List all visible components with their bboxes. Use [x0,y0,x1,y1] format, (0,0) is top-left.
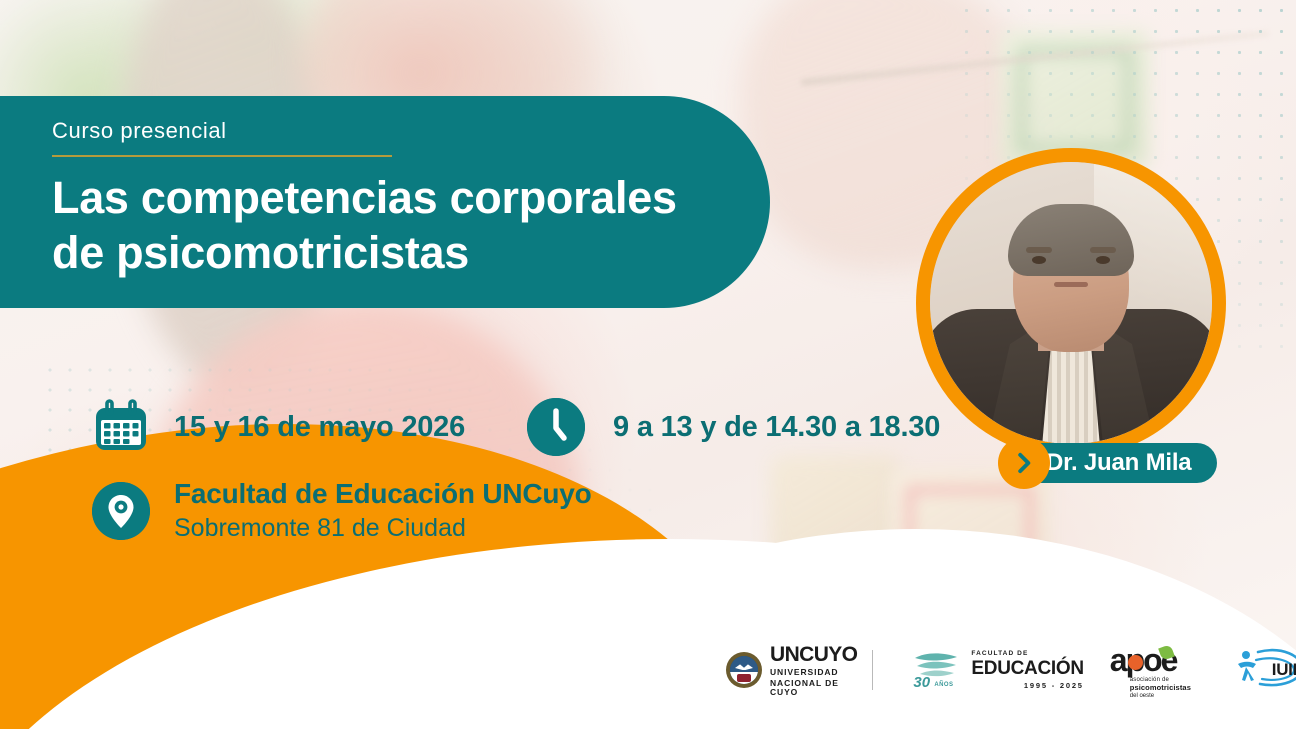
logo-apoe: apoe asociación de psicomotricistas del … [1110,644,1206,696]
apoe-orange-dot-icon [1128,655,1143,670]
apoe-subtitle-3: del oeste [1130,693,1191,700]
uncuyo-subtitle-1: UNIVERSIDAD [770,668,858,677]
speaker-avatar [916,148,1226,458]
venue-texts: Facultad de Educación UNCuyo Sobremonte … [174,478,592,543]
speaker-ring [916,148,1226,458]
logo-divider [872,650,873,690]
calendar-icon [92,398,150,456]
facultad-anniversary-number: 30 [913,674,930,691]
course-flyer: Curso presencial Las competencias corpor… [0,0,1296,729]
title-banner: Curso presencial Las competencias corpor… [0,96,770,308]
logo-uncuyo: UNCUYO UNIVERSIDAD NACIONAL DE CUYO [726,644,886,697]
kicker-underline [52,155,392,157]
venue-name: Facultad de Educación UNCuyo [174,478,592,510]
sponsor-logos: UNCUYO UNIVERSIDAD NACIONAL DE CUYO 30 A… [726,637,1296,703]
speaker-name: Dr. Juan Mila [1046,449,1191,477]
event-date: 15 y 16 de mayo 2026 [174,411,465,444]
venue-row: Facultad de Educación UNCuyo Sobremonte … [92,482,940,543]
event-time: 9 a 13 y de 14.30 a 18.30 [613,411,940,444]
iuip-abbreviation: IUIP [1272,660,1296,680]
facultad-anniversary-word: AÑOS [934,682,953,688]
page-title: Las competencias corporales de psicomotr… [52,171,712,281]
apoe-subtitle-2: psicomotricistas [1130,684,1191,693]
page-title-line-2: de psicomotricistas [52,226,712,281]
venue-address: Sobremonte 81 de Ciudad [174,514,592,543]
wave-icon: 30 AÑOS [912,650,964,690]
uncuyo-shield-icon [726,652,762,688]
speaker-portrait [930,162,1212,444]
logo-iuip: IUIP Instituto Universitario de Investig… [1232,630,1296,711]
clock-icon [527,398,585,456]
kicker-label: Curso presencial [52,118,770,144]
facultad-wordmark: EDUCACIÓN [971,659,1083,678]
uncuyo-subtitle-2: NACIONAL DE CUYO [770,679,858,696]
person-swoosh-icon: IUIP [1232,646,1296,694]
facultad-small-label: FACULTAD DE [971,651,1083,658]
logo-facultad-educacion: 30 AÑOS FACULTAD DE EDUCACIÓN 1995 - 202… [912,650,1083,690]
uncuyo-wordmark: UNCUYO [770,644,858,665]
date-time-row: 15 y 16 de mayo 2026 9 a 13 y de 14.30 a… [92,398,940,456]
chevron-right-icon [998,437,1050,489]
facultad-years: 1995 - 2025 [971,682,1083,690]
page-title-line-1: Las competencias corporales [52,171,712,226]
event-details: 15 y 16 de mayo 2026 9 a 13 y de 14.30 a… [92,398,940,543]
location-pin-icon [92,482,150,540]
